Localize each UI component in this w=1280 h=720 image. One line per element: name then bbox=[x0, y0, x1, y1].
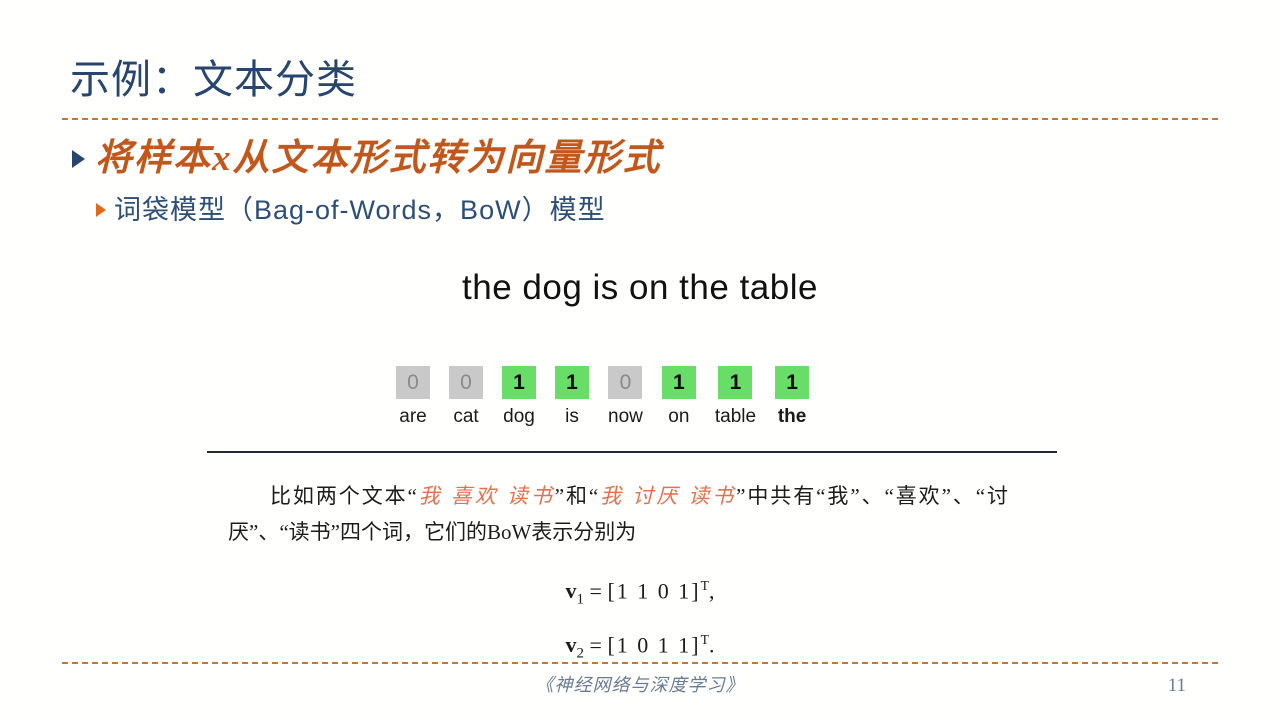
explanation-segment-2: ”和“ bbox=[555, 484, 599, 508]
bow-cell-value: 1 bbox=[718, 366, 752, 399]
bow-cell-value: 0 bbox=[608, 366, 642, 399]
bow-cell-word: on bbox=[668, 406, 689, 428]
formula-tail: . bbox=[709, 632, 715, 657]
bow-cell-value: 1 bbox=[775, 366, 809, 399]
formula-open-bracket: [ bbox=[607, 632, 616, 657]
bow-cell-word: dog bbox=[503, 406, 535, 428]
bullet-level2: 词袋模型（Bag-of-Words，BoW）模型 bbox=[96, 192, 606, 228]
formula-values: 1 1 0 1 bbox=[617, 578, 692, 603]
formula-equals: = bbox=[590, 578, 602, 603]
bow-cell-value: 1 bbox=[555, 366, 589, 399]
formula-tail: , bbox=[709, 578, 715, 603]
formula-equals: = bbox=[590, 632, 602, 657]
formula-line: v2 = [1 0 1 1]T. bbox=[0, 620, 1280, 674]
formula-close-bracket: ] bbox=[691, 578, 700, 603]
bow-cell-word: now bbox=[608, 406, 643, 428]
bow-cell-value: 0 bbox=[449, 366, 483, 399]
explanation-highlight-2: 我 讨厌 读书 bbox=[598, 484, 736, 508]
formula-line: v1 = [1 1 0 1]T, bbox=[0, 566, 1280, 620]
bow-column: 1on bbox=[662, 366, 696, 428]
bow-cell-value: 1 bbox=[662, 366, 696, 399]
formula-close-bracket: ] bbox=[691, 632, 700, 657]
bow-cell-word: are bbox=[399, 406, 426, 428]
formula-block: v1 = [1 1 0 1]T,v2 = [1 0 1 1]T. bbox=[0, 566, 1280, 673]
formula-vector-name: v1 bbox=[566, 578, 584, 603]
formula-open-bracket: [ bbox=[607, 578, 616, 603]
bow-column: 1is bbox=[555, 366, 589, 428]
bullet-level1-label: 将样本x从文本形式转为向量形式 bbox=[95, 136, 662, 182]
bow-column: 1dog bbox=[502, 366, 536, 428]
bow-cell-word: is bbox=[565, 406, 579, 428]
footer-book-title: 《神经网络与深度学习》 bbox=[0, 672, 1280, 698]
formula-vector-name: v2 bbox=[566, 632, 584, 657]
formula-transpose: T bbox=[701, 578, 709, 593]
title-divider bbox=[62, 118, 1218, 120]
footer-divider bbox=[62, 662, 1218, 664]
bullet-level2-label: 词袋模型（Bag-of-Words，BoW）模型 bbox=[114, 192, 606, 228]
formula-subscript: 2 bbox=[577, 645, 584, 661]
bow-cell-word: cat bbox=[453, 406, 478, 428]
formula-subscript: 1 bbox=[577, 592, 584, 608]
bow-cell-value: 0 bbox=[396, 366, 430, 399]
section-divider bbox=[207, 451, 1057, 453]
bow-cell-word: the bbox=[778, 406, 807, 428]
triangle-bullet-icon bbox=[72, 150, 85, 168]
explanation-highlight-1: 我 喜欢 读书 bbox=[417, 484, 555, 508]
page-title: 示例：文本分类 bbox=[70, 56, 357, 104]
bow-cell-word: table bbox=[715, 406, 756, 428]
triangle-bullet-small-icon bbox=[96, 203, 106, 217]
page-number: 11 bbox=[1168, 674, 1186, 698]
bow-column: 1the bbox=[775, 366, 809, 428]
explanation-segment-1: 比如两个文本“ bbox=[270, 484, 417, 508]
bow-column: 0cat bbox=[449, 366, 483, 428]
bow-vector-diagram: 0are0cat1dog1is0now1on1table1the bbox=[396, 366, 809, 428]
bow-column: 0now bbox=[608, 366, 643, 428]
bow-column: 0are bbox=[396, 366, 430, 428]
bow-column: 1table bbox=[715, 366, 756, 428]
formula-values: 1 0 1 1 bbox=[617, 632, 692, 657]
explanation-paragraph: 比如两个文本“我 喜欢 读书”和“我 讨厌 读书”中共有“我”、“喜欢”、“讨厌… bbox=[228, 478, 1008, 550]
formula-transpose: T bbox=[701, 632, 709, 647]
example-sentence: the dog is on the table bbox=[0, 266, 1280, 310]
bow-cell-value: 1 bbox=[502, 366, 536, 399]
bullet-level1: 将样本x从文本形式转为向量形式 bbox=[72, 136, 662, 182]
